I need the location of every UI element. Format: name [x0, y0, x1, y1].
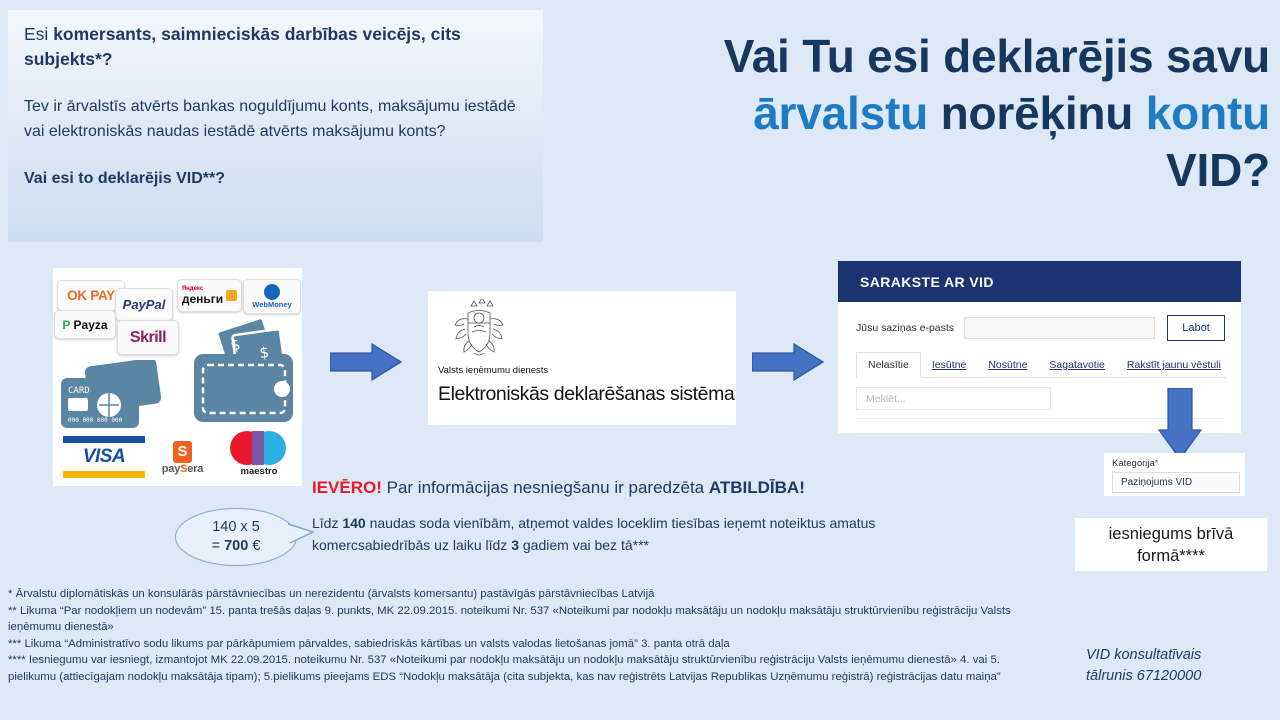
- arrow-right-icon-1: [330, 343, 402, 381]
- vid-tab-nelasitie[interactable]: Nelasītie: [856, 352, 921, 378]
- maestro-circles-icon: [221, 431, 297, 465]
- intro-q1-suffix: *?: [95, 49, 113, 69]
- penalty-years-3: 3: [511, 537, 519, 553]
- vid-tab-iesutne[interactable]: Iesūtne: [921, 353, 977, 377]
- intro-q1-bold: komersants, saimnieciskās darbības veicē…: [24, 24, 461, 69]
- credit-cards-icon: CARD 000 000 000 000: [59, 360, 163, 432]
- visa-bottom-bar: [63, 471, 145, 478]
- vid-search-input[interactable]: Meklēt...: [856, 387, 1051, 410]
- headline-line-2-mid: norēķinu: [928, 87, 1146, 139]
- intro-panel: Esi komersants, saimnieciskās darbības v…: [8, 10, 543, 242]
- yandex-bottom-label: деньги: [182, 293, 223, 305]
- yandex-chip-icon: [226, 290, 237, 301]
- eds-subtitle: Valsts ieņēmumu dienests: [438, 365, 548, 376]
- warning-atbildiba-label: ATBILDĪBA!: [709, 478, 805, 497]
- phone-line-1: VID konsultatīvais: [1086, 645, 1276, 666]
- paypal-label: PayPal: [123, 297, 166, 312]
- footnote-4: **** Iesniegumu var iesniegt, izmantojot…: [8, 652, 1048, 685]
- warning-mid-text: Par informācijas nesniegšanu ir paredzēt…: [382, 478, 709, 497]
- intro-question-primary: Esi komersants, saimnieciskās darbības v…: [24, 22, 527, 72]
- footnote-1: * Ārvalstu diplomātiskās un konsulārās p…: [8, 586, 1048, 603]
- penalty-amount-140: 140: [342, 515, 365, 531]
- vid-consultation-phone: VID konsultatīvais tālrunis 67120000: [1086, 645, 1276, 687]
- paysera-icon: S: [173, 441, 192, 463]
- calculation-bubble: 140 x 5 = 700 €: [175, 508, 297, 566]
- vid-panel-header: SARAKSTE AR VID: [838, 261, 1241, 302]
- webmoney-globe-icon: [264, 284, 280, 300]
- headline-line-3: VID?: [1166, 144, 1270, 196]
- penalty-suffix: gadiem vai bez tā***: [519, 537, 649, 553]
- kategorija-select[interactable]: Paziņojums VID: [1112, 472, 1240, 493]
- intro-q1-prefix: Esi: [24, 24, 53, 44]
- penalty-prefix: Līdz: [312, 515, 342, 531]
- arrow-right-icon-2: [752, 343, 824, 381]
- svg-text:$: $: [259, 343, 270, 362]
- card-digits: 000 000 000 000: [68, 417, 123, 424]
- latvia-coat-of-arms-icon: [450, 299, 508, 361]
- vid-tab-bar: Nelasītie Iesūtne Nosūtne Sagatavotie Ra…: [856, 352, 1227, 378]
- payza-label: P Payza: [62, 318, 107, 332]
- vid-tab-nosutne[interactable]: Nosūtne: [977, 353, 1038, 377]
- visa-label: VISA: [63, 446, 145, 468]
- webmoney-label: WebMoney: [252, 300, 291, 309]
- intro-question-secondary: Vai esi to deklarējis VID**?: [24, 168, 527, 190]
- phone-line-2: tālrunis 67120000: [1086, 666, 1276, 687]
- skrill-logo: Skrill: [117, 320, 179, 355]
- maestro-label: maestro: [221, 466, 297, 477]
- warning-ievero-label: IEVĒRO!: [312, 478, 382, 497]
- headline-accent-kontu: kontu: [1146, 87, 1270, 139]
- vid-email-label: Jūsu saziņas e-pasts: [856, 322, 954, 334]
- bubble-line-2: = 700 €: [212, 537, 261, 556]
- visa-logo: VISA: [63, 436, 145, 478]
- iesniegums-brivaa-forma-box: iesniegums brīvā formā****: [1075, 518, 1267, 571]
- webmoney-logo: WebMoney: [243, 279, 301, 314]
- okpay-label: OK PAY: [67, 288, 115, 303]
- bubble-tail-icon: [288, 522, 314, 544]
- vid-email-row: Jūsu saziņas e-pasts Labot: [838, 302, 1241, 341]
- skrill-label: Skrill: [130, 329, 166, 347]
- headline-line-1: Vai Tu esi deklarējis savu: [724, 30, 1270, 82]
- card-label: CARD: [68, 386, 90, 396]
- intro-body-text: Tev ir ārvalstīs atvērts bankas noguldīj…: [24, 94, 527, 144]
- kategorija-field: Kategorija* Paziņojums VID: [1104, 453, 1245, 496]
- paysera-label: paySera: [149, 463, 216, 475]
- vid-email-input[interactable]: [964, 317, 1155, 339]
- headline-accent-arvalstu: ārvalstu: [753, 87, 928, 139]
- eds-title: Elektroniskās deklarēšanas sistēma: [438, 383, 734, 406]
- vid-edit-button[interactable]: Labot: [1167, 315, 1225, 341]
- page-title: Vai Tu esi deklarējis savu ārvalstu norē…: [560, 28, 1270, 199]
- yandex-money-logo: Яндекс деньги: [177, 279, 242, 312]
- slide-canvas: Esi komersants, saimnieciskās darbības v…: [0, 0, 1280, 720]
- payment-methods-collage: OK PAY PayPal Яндекс деньги WebMoney P P…: [53, 268, 302, 486]
- kategorija-required-marker: *: [1155, 458, 1159, 469]
- paysera-logo: S paySera: [149, 441, 216, 479]
- payza-logo: P Payza: [54, 310, 116, 339]
- visa-top-bar: [63, 436, 145, 443]
- kategorija-label: Kategorija*: [1112, 458, 1245, 469]
- eds-logo-box: Valsts ieņēmumu dienests Elektroniskās d…: [428, 291, 736, 425]
- footnote-3: *** Likuma “Administratīvo sodu likums p…: [8, 636, 1048, 653]
- wallet-cash-icon: $ $: [190, 318, 297, 428]
- arrow-down-icon: [1158, 388, 1202, 460]
- vid-tab-sagatavotie[interactable]: Sagatavotie: [1038, 353, 1115, 377]
- maestro-logo: maestro: [221, 431, 297, 481]
- footnote-2: ** Likuma “Par nodokļiem un nodevām” 15.…: [8, 603, 1048, 636]
- warning-headline: IEVĒRO! Par informācijas nesniegšanu ir …: [312, 478, 805, 498]
- bubble-line-1: 140 x 5: [212, 518, 260, 537]
- vid-tab-rakstit-jaunu-vestuli[interactable]: Rakstīt jaunu vēstuli: [1116, 353, 1232, 377]
- paypal-logo: PayPal: [115, 288, 173, 321]
- penalty-description: Līdz 140 naudas soda vienībām, atņemot v…: [312, 512, 952, 556]
- footnotes: * Ārvalstu diplomātiskās un konsulārās p…: [8, 586, 1048, 686]
